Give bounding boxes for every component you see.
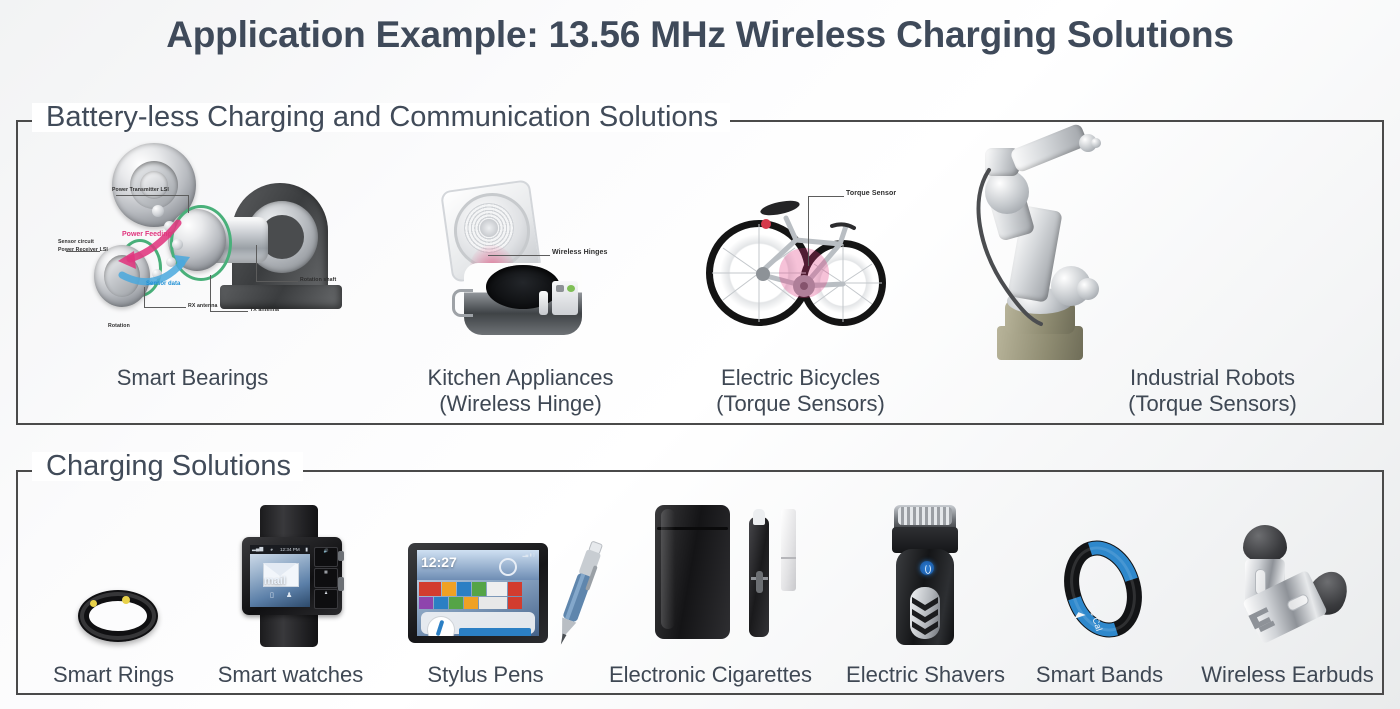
label-sensor-data: Sensor data <box>146 281 180 287</box>
watch-mail-label: mail <box>264 575 286 587</box>
electric-shaver-photo <box>890 505 962 647</box>
caption-electric-shavers: Electric Shavers <box>838 662 1013 688</box>
label-rx-antenna: RX antenna <box>188 303 218 309</box>
smart-band-photo: 256 Cal <box>1057 540 1149 638</box>
label-rotation: Rotation <box>108 323 130 329</box>
smart-watch-photo: ▂▄▆ ◕ 12:34 PM ▮ mail ▯ ♟ 🔊 ▦ ♟ <box>232 505 347 645</box>
caption-electronic-cigarettes: Electronic Cigarettes <box>598 662 823 688</box>
stylus-pen-icon <box>548 536 612 648</box>
caption-smart-bands: Smart Bands <box>1022 662 1177 688</box>
caption-kitchen-appliances: Kitchen Appliances (Wireless Hinge) <box>398 365 643 417</box>
watch-time: 12:34 PM <box>280 547 300 552</box>
wireless-earbuds-photo <box>1225 525 1350 643</box>
caption-industrial-robots: Industrial Robots (Torque Sensors) <box>1090 365 1335 417</box>
industrial-robot-illustration <box>955 130 1130 365</box>
rice-cooker-illustration: Wireless Hinges <box>440 185 615 345</box>
smart-ring-photo <box>78 590 158 642</box>
label-wireless-hinges: Wireless Hinges <box>552 249 608 256</box>
label-power-feeding: Power Feeding <box>122 231 172 238</box>
electronic-cigarette-photo <box>655 505 805 645</box>
tablet-clock: 12:27 <box>421 554 457 570</box>
label-power-transmitter-lsi: Power Transmitter LSI <box>112 187 169 193</box>
electric-bicycle-illustration: Torque Sensor <box>700 178 890 353</box>
stylus-pen-photo: 12:27 ▂▄ ▮ ▯ <box>408 543 548 643</box>
caption-smart-bearings: Smart Bearings <box>70 365 315 391</box>
label-torque-sensor: Torque Sensor <box>846 190 896 197</box>
section-battery-less-legend: Battery-less Charging and Communication … <box>32 103 730 132</box>
caption-stylus-pens: Stylus Pens <box>408 662 563 688</box>
label-tx-antenna: TX antenna <box>250 307 279 313</box>
slide-root: Application Example: 13.56 MHz Wireless … <box>0 0 1400 709</box>
label-rotation-shaft: Rotation shaft <box>300 277 336 283</box>
label-sensor-circuit: Sensor circuit <box>58 239 94 245</box>
caption-smart-watches: Smart watches <box>208 662 373 688</box>
caption-electric-bicycles: Electric Bicycles (Torque Sensors) <box>678 365 923 417</box>
caption-smart-rings: Smart Rings <box>36 662 191 688</box>
caption-wireless-earbuds: Wireless Earbuds <box>1190 662 1385 688</box>
section-charging-solutions-legend: Charging Solutions <box>32 452 303 481</box>
label-power-receiver-lsi: Power Receiver LSI <box>58 247 108 253</box>
page-title: Application Example: 13.56 MHz Wireless … <box>0 14 1400 56</box>
smart-bearing-illustration: Power Transmitter LSI Sensor circuit Pow… <box>60 135 350 360</box>
